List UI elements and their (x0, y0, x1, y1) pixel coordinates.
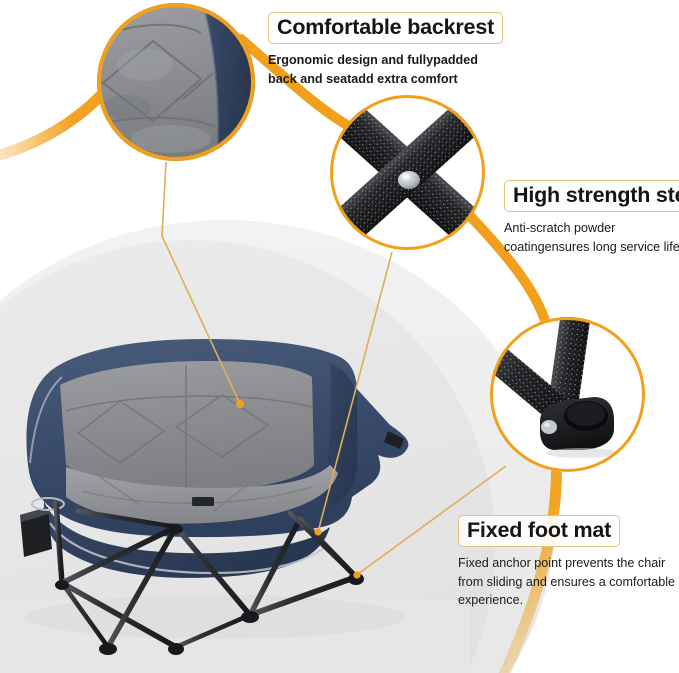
callout-body-fixed-foot-mat: Fixed anchor point prevents the chair fr… (458, 554, 679, 609)
callout-fixed-foot-mat: Fixed foot mat Fixed anchor point preven… (458, 515, 679, 609)
product-image-camping-loveseat (0, 315, 440, 655)
detail-bubble-high-strength-steel (330, 95, 485, 250)
callout-title-fixed-foot-mat: Fixed foot mat (458, 515, 620, 547)
callout-title-comfortable-backrest: Comfortable backrest (268, 12, 503, 44)
callout-comfortable-backrest: Comfortable backrest Ergonomic design an… (268, 12, 500, 88)
detail-bubble-comfortable-backrest (97, 3, 255, 161)
callout-body-high-strength-steel: Anti-scratch powder coatingensures long … (504, 219, 679, 256)
callout-body-comfortable-backrest: Ergonomic design and fullypadded back an… (268, 51, 498, 88)
callout-high-strength-steel: High strength steel Anti-scratch powder … (504, 180, 679, 256)
callout-title-high-strength-steel: High strength steel (504, 180, 679, 212)
detail-bubble-fixed-foot-mat (490, 317, 645, 472)
product-feature-infographic: Comfortable backrest Ergonomic design an… (0, 0, 679, 673)
